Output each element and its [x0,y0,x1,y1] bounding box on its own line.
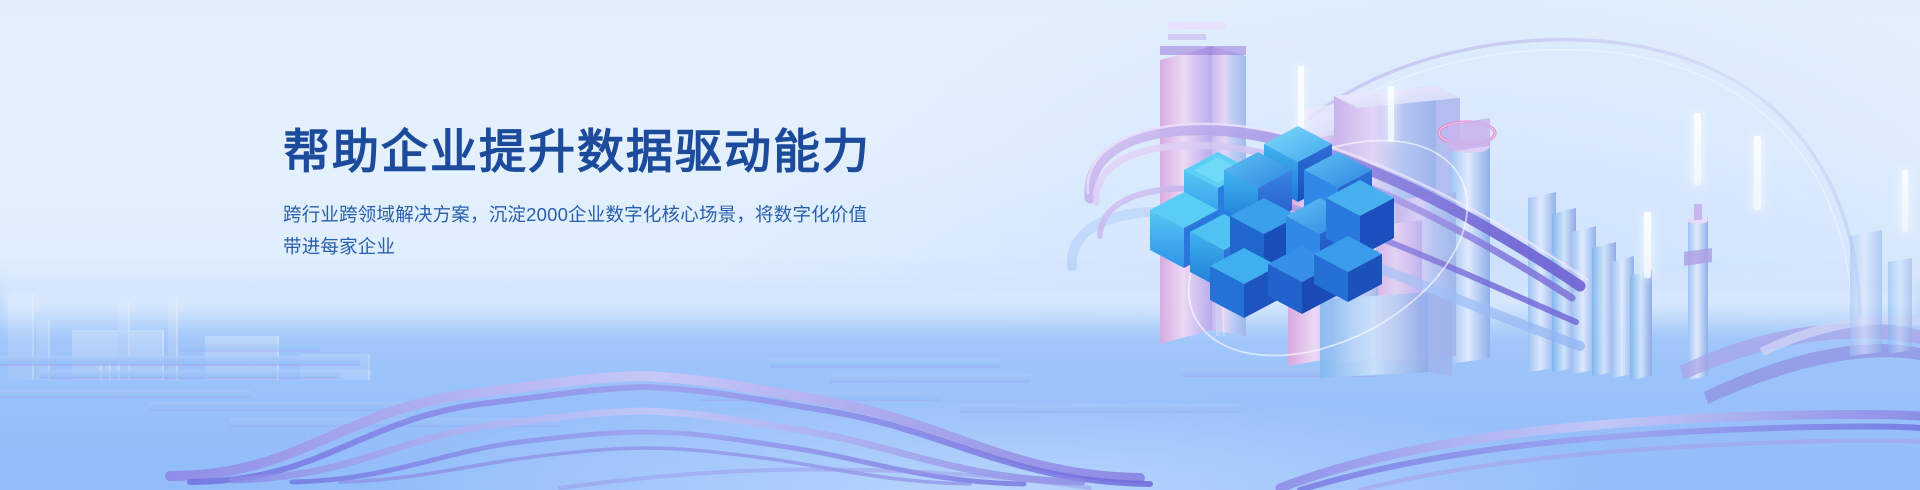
hero-banner: 帮助企业提升数据驱动能力 跨行业跨领域解决方案，沉淀2000企业数字化核心场景，… [0,0,1920,490]
subtitle-line-1: 跨行业跨领域解决方案，沉淀2000企业数字化核心场景，将数字化价值 [283,199,943,231]
bottom-ribbon-bridge [0,290,1920,490]
page-subtitle: 跨行业跨领域解决方案，沉淀2000企业数字化核心场景，将数字化价值 带进每家企业 [283,199,943,264]
hero-copy: 帮助企业提升数据驱动能力 跨行业跨领域解决方案，沉淀2000企业数字化核心场景，… [283,126,983,263]
subtitle-line-2: 带进每家企业 [283,231,943,263]
page-title: 帮助企业提升数据驱动能力 [283,126,983,179]
